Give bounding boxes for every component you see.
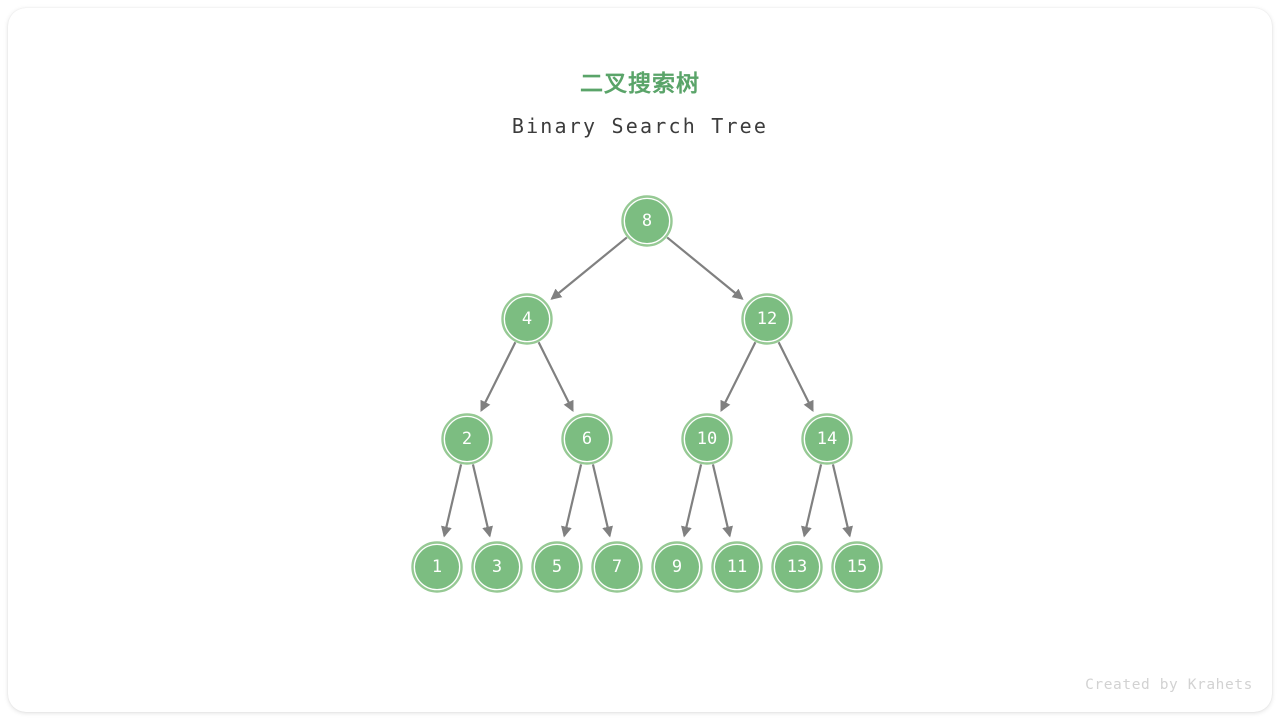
tree-edge (667, 237, 742, 298)
tree-node[interactable]: 10 (683, 415, 732, 464)
tree-node[interactable]: 8 (623, 197, 672, 246)
tree-edge (684, 464, 701, 536)
node-label: 13 (787, 557, 807, 577)
tree-node[interactable]: 6 (563, 415, 612, 464)
node-label: 10 (697, 429, 717, 449)
node-label: 2 (462, 429, 472, 449)
node-label: 12 (757, 309, 777, 329)
tree-node[interactable]: 13 (773, 543, 822, 592)
node-label: 8 (642, 211, 652, 231)
node-label: 9 (672, 557, 682, 577)
tree-edge (713, 464, 730, 536)
tree-edge (564, 464, 581, 536)
tree-edge (833, 464, 850, 536)
tree-edge (779, 342, 813, 410)
tree-edge (473, 464, 490, 536)
node-label: 15 (847, 557, 867, 577)
node-label: 11 (727, 557, 747, 577)
tree-edge (721, 342, 755, 410)
node-label: 1 (432, 557, 442, 577)
binary-search-tree-diagram: 841226101413579111315 (8, 8, 1272, 712)
credit-label: Created by Krahets (1085, 677, 1253, 693)
tree-edge (804, 464, 821, 536)
tree-edge (444, 464, 461, 536)
tree-node[interactable]: 3 (473, 543, 522, 592)
tree-node[interactable]: 14 (803, 415, 852, 464)
tree-edge (552, 237, 627, 298)
tree-edge (593, 464, 610, 536)
tree-nodes: 841226101413579111315 (413, 197, 882, 592)
tree-edges (444, 237, 849, 535)
node-label: 6 (582, 429, 592, 449)
node-label: 14 (817, 429, 837, 449)
tree-node[interactable]: 5 (533, 543, 582, 592)
tree-node[interactable]: 2 (443, 415, 492, 464)
tree-edge (481, 342, 515, 410)
tree-node[interactable]: 1 (413, 543, 462, 592)
tree-node[interactable]: 11 (713, 543, 762, 592)
node-label: 5 (552, 557, 562, 577)
node-label: 4 (522, 309, 532, 329)
tree-node[interactable]: 12 (743, 295, 792, 344)
tree-node[interactable]: 4 (503, 295, 552, 344)
tree-edge (539, 342, 573, 410)
diagram-card: 二叉搜索树 Binary Search Tree 841226101413579… (8, 8, 1272, 712)
tree-node[interactable]: 9 (653, 543, 702, 592)
tree-node[interactable]: 7 (593, 543, 642, 592)
tree-node[interactable]: 15 (833, 543, 882, 592)
node-label: 3 (492, 557, 502, 577)
node-label: 7 (612, 557, 622, 577)
